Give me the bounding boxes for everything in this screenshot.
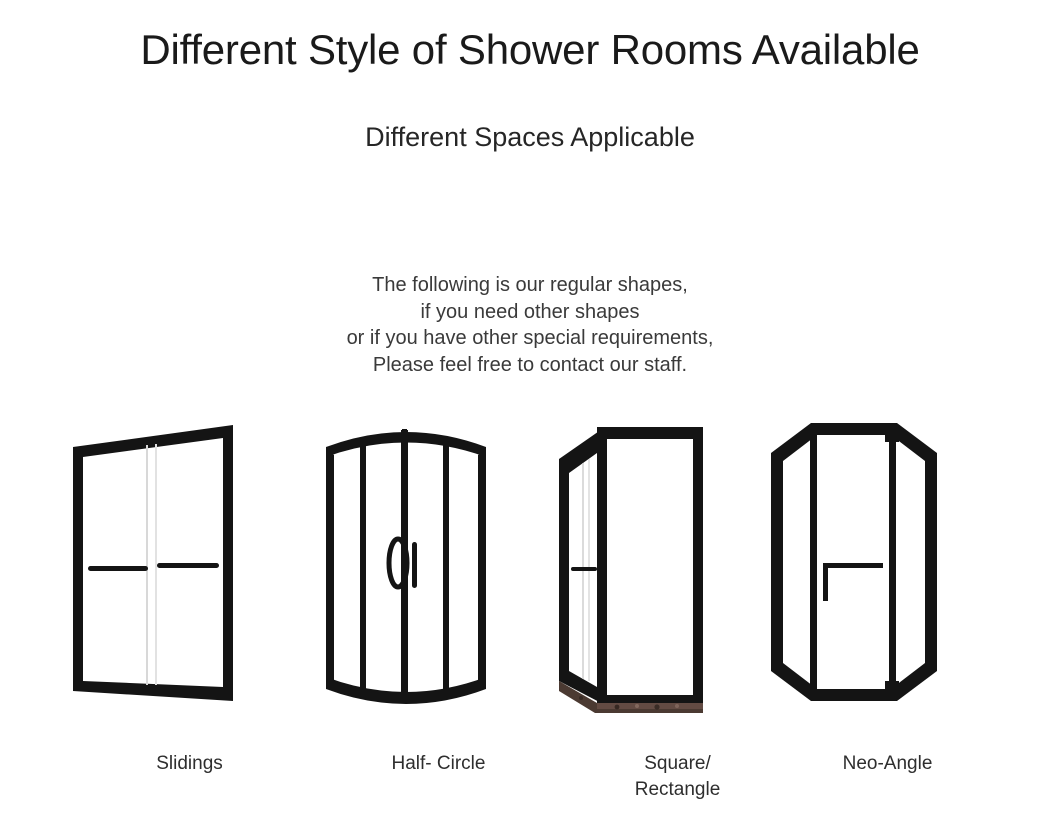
product-caption: Neo-Angle — [755, 751, 1020, 777]
body-copy-line-2: if you need other shapes — [0, 299, 1060, 326]
product-item-half-circle: Half- Circle — [306, 415, 571, 823]
quadrant-shower-enclosure-icon — [306, 415, 571, 725]
sliding-shower-door-icon — [57, 415, 322, 725]
product-item-neo-angle: Neo-Angle — [755, 415, 1020, 823]
product-caption-line-1: Neo-Angle — [755, 751, 1020, 777]
page-title: Different Style of Shower Rooms Availabl… — [0, 26, 1060, 74]
product-caption-line-1: Slidings — [57, 751, 322, 777]
body-copy-line-1: The following is our regular shapes, — [0, 272, 1060, 299]
product-caption: Slidings — [57, 751, 322, 777]
neo-angle-shower-enclosure-icon — [755, 415, 1020, 725]
infographic-page: Different Style of Shower Rooms Availabl… — [0, 0, 1060, 823]
product-caption-line-1: Half- Circle — [306, 751, 571, 777]
product-gallery: Slidings — [0, 415, 1060, 823]
page-subtitle: Different Spaces Applicable — [0, 122, 1060, 153]
body-copy-line-3: or if you have other special requirement… — [0, 325, 1060, 352]
product-item-slidings: Slidings — [57, 415, 322, 823]
body-copy: The following is our regular shapes, if … — [0, 272, 1060, 378]
body-copy-line-4: Please feel free to contact our staff. — [0, 352, 1060, 379]
product-caption: Half- Circle — [306, 751, 571, 777]
